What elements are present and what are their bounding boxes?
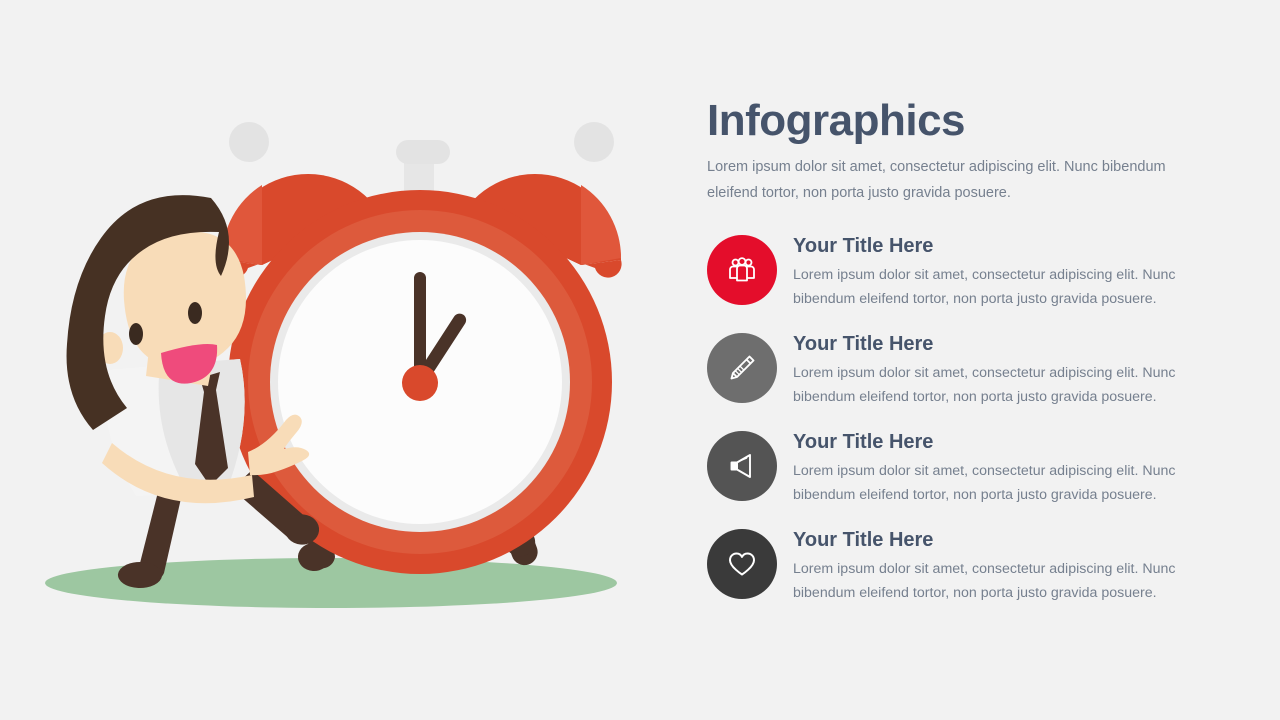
clock-center-hub bbox=[402, 365, 438, 401]
list-item-body: Your Title Here Lorem ipsum dolor sit am… bbox=[793, 232, 1207, 312]
bell-knob-right bbox=[574, 122, 614, 162]
people-group-icon bbox=[726, 254, 758, 286]
page-title: Infographics bbox=[707, 96, 1227, 145]
icon-circle-2[interactable] bbox=[707, 333, 777, 403]
list-item-body: Your Title Here Lorem ipsum dolor sit am… bbox=[793, 526, 1207, 606]
list-item-title: Your Title Here bbox=[793, 332, 1207, 357]
megaphone-icon bbox=[726, 450, 758, 482]
list-item-title: Your Title Here bbox=[793, 430, 1207, 455]
list-item-title: Your Title Here bbox=[793, 528, 1207, 553]
list-item-body: Your Title Here Lorem ipsum dolor sit am… bbox=[793, 330, 1207, 410]
list-item[interactable]: Your Title Here Lorem ipsum dolor sit am… bbox=[707, 330, 1227, 410]
content-panel: Infographics Lorem ipsum dolor sit amet,… bbox=[707, 96, 1227, 605]
list-item-text: Lorem ipsum dolor sit amet, consectetur … bbox=[793, 557, 1207, 606]
icon-circle-4[interactable] bbox=[707, 529, 777, 599]
list-item[interactable]: Your Title Here Lorem ipsum dolor sit am… bbox=[707, 428, 1227, 508]
icon-circle-1[interactable] bbox=[707, 235, 777, 305]
slide-root: Infographics Lorem ipsum dolor sit amet,… bbox=[0, 0, 1280, 720]
list-item[interactable]: Your Title Here Lorem ipsum dolor sit am… bbox=[707, 232, 1227, 312]
page-subtitle: Lorem ipsum dolor sit amet, consectetur … bbox=[707, 155, 1197, 206]
character-eye-left bbox=[129, 323, 143, 345]
pencil-icon bbox=[726, 352, 758, 384]
bell-knob-left bbox=[229, 122, 269, 162]
feature-list: Your Title Here Lorem ipsum dolor sit am… bbox=[707, 232, 1227, 605]
list-item-body: Your Title Here Lorem ipsum dolor sit am… bbox=[793, 428, 1207, 508]
character-eye-right bbox=[188, 302, 202, 324]
list-item-text: Lorem ipsum dolor sit amet, consectetur … bbox=[793, 263, 1207, 312]
icon-circle-3[interactable] bbox=[707, 431, 777, 501]
list-item-text: Lorem ipsum dolor sit amet, consectetur … bbox=[793, 361, 1207, 410]
list-item-title: Your Title Here bbox=[793, 234, 1207, 259]
alarm-clock-illustration bbox=[0, 0, 680, 720]
list-item[interactable]: Your Title Here Lorem ipsum dolor sit am… bbox=[707, 526, 1227, 606]
heart-icon bbox=[726, 548, 758, 580]
list-item-text: Lorem ipsum dolor sit amet, consectetur … bbox=[793, 459, 1207, 508]
